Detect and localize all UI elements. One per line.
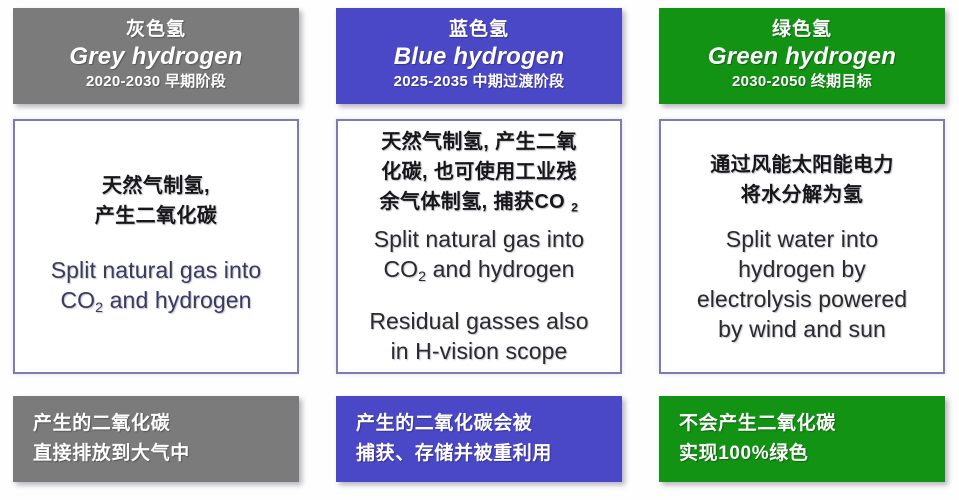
text-line: 化碳, 也可使用工业残 xyxy=(380,157,579,187)
text-line: CO2 and hydrogen xyxy=(51,285,262,323)
text-line: 天然气制氢, xyxy=(95,171,217,201)
text-line: in H-vision scope xyxy=(369,336,588,366)
header-title-en: Green hydrogen xyxy=(708,42,896,71)
body-card-blue-hydrogen: 天然气制氢, 产生二氧化碳, 也可使用工业残余气体制氢, 捕获CO 2 Spli… xyxy=(336,119,622,374)
footer-card-blue-hydrogen: 产生的二氧化碳会被捕获、存储并被重利用 xyxy=(336,396,622,482)
hydrogen-comparison-board: 灰色氢 Grey hydrogen 2020-2030 早期阶段 天然气制氢,产… xyxy=(0,0,959,500)
text-line: 捕获、存储并被重利用 xyxy=(356,439,552,469)
text-line: hydrogen by xyxy=(697,254,907,284)
header-title-cn: 绿色氢 xyxy=(772,17,832,42)
body-text-en-group: Split natural gas intoCO2 and hydrogen xyxy=(51,255,262,323)
text-line: 将水分解为氢 xyxy=(710,180,894,210)
header-card-blue-hydrogen: 蓝色氢 Blue hydrogen 2025-2035 中期过渡阶段 xyxy=(336,8,622,104)
text-line: Split natural gas into xyxy=(369,224,588,254)
column-grey-hydrogen: 灰色氢 Grey hydrogen 2020-2030 早期阶段 天然气制氢,产… xyxy=(13,8,299,494)
body-text-cn: 天然气制氢,产生二氧化碳 xyxy=(95,171,217,231)
body-text-cn: 天然气制氢, 产生二氧化碳, 也可使用工业残余气体制氢, 捕获CO 2 xyxy=(380,127,579,222)
footer-text: 不会产生二氧化碳实现100%绿色 xyxy=(679,409,836,469)
text-line: Split water into xyxy=(697,224,907,254)
column-green-hydrogen: 绿色氢 Green hydrogen 2030-2050 终期目标 通过风能太阳… xyxy=(659,8,945,494)
text-line: Split natural gas into xyxy=(51,255,262,285)
text-line: 天然气制氢, 产生二氧 xyxy=(380,127,579,157)
body-card-grey-hydrogen: 天然气制氢,产生二氧化碳 Split natural gas intoCO2 a… xyxy=(13,119,299,374)
text-line: by wind and sun xyxy=(697,314,907,344)
header-period: 2025-2035 中期过渡阶段 xyxy=(394,71,565,93)
column-blue-hydrogen: 蓝色氢 Blue hydrogen 2025-2035 中期过渡阶段 天然气制氢… xyxy=(336,8,622,494)
text-line: electrolysis powered xyxy=(697,284,907,314)
footer-card-grey-hydrogen: 产生的二氧化碳直接排放到大气中 xyxy=(13,396,299,482)
subscript-2: 2 xyxy=(418,269,426,285)
spacer xyxy=(369,292,588,306)
text-line: 产生的二氧化碳 xyxy=(33,409,190,439)
body-text-cn: 通过风能太阳能电力将水分解为氢 xyxy=(710,150,894,210)
text-line: 余气体制氢, 捕获CO 2 xyxy=(380,187,579,222)
footer-text: 产生的二氧化碳直接排放到大气中 xyxy=(33,409,190,469)
header-title-cn: 蓝色氢 xyxy=(449,17,509,42)
body-card-green-hydrogen: 通过风能太阳能电力将水分解为氢 Split water intohydrogen… xyxy=(659,119,945,374)
subscript-2: 2 xyxy=(95,299,103,315)
footer-card-green-hydrogen: 不会产生二氧化碳实现100%绿色 xyxy=(659,396,945,482)
text-line: Residual gasses also xyxy=(369,306,588,336)
body-text-en: Split natural gas intoCO2 and hydrogen xyxy=(51,255,262,323)
body-text-en: Split water intohydrogen byelectrolysis … xyxy=(697,224,907,344)
text-line: 直接排放到大气中 xyxy=(33,439,190,469)
header-period: 2020-2030 早期阶段 xyxy=(86,71,226,93)
body-text-en: Residual gasses alsoin H-vision scope xyxy=(369,306,588,366)
body-text-en-group: Split water intohydrogen byelectrolysis … xyxy=(697,224,907,344)
subscript-2: 2 xyxy=(571,200,578,214)
header-card-green-hydrogen: 绿色氢 Green hydrogen 2030-2050 终期目标 xyxy=(659,8,945,104)
header-card-grey-hydrogen: 灰色氢 Grey hydrogen 2020-2030 早期阶段 xyxy=(13,8,299,104)
footer-text: 产生的二氧化碳会被捕获、存储并被重利用 xyxy=(356,409,552,469)
text-line: 实现100%绿色 xyxy=(679,439,836,469)
text-line: 通过风能太阳能电力 xyxy=(710,150,894,180)
text-line: 产生二氧化碳 xyxy=(95,201,217,231)
header-title-en: Grey hydrogen xyxy=(69,42,242,71)
header-title-en: Blue hydrogen xyxy=(394,42,565,71)
text-line: 产生的二氧化碳会被 xyxy=(356,409,552,439)
body-text-en: Split natural gas intoCO2 and hydrogen xyxy=(369,224,588,292)
text-line: CO2 and hydrogen xyxy=(369,254,588,292)
text-line: 不会产生二氧化碳 xyxy=(679,409,836,439)
body-text-en-group: Split natural gas intoCO2 and hydrogenRe… xyxy=(369,224,588,366)
header-title-cn: 灰色氢 xyxy=(126,17,186,42)
header-period: 2030-2050 终期目标 xyxy=(732,71,872,93)
